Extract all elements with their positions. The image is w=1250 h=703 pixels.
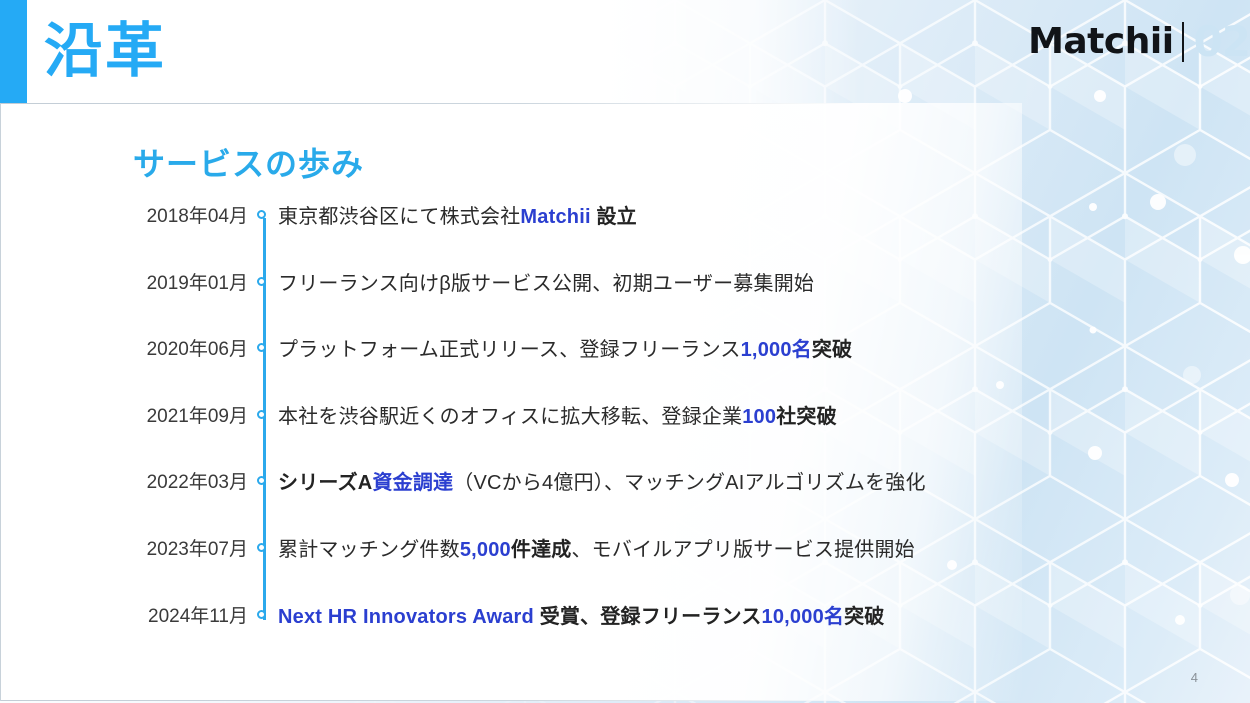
timeline-text-segment: 累計マッチング件数 [278, 539, 460, 561]
timeline-event-text: プラットフォーム正式リリース、登録フリーランス1,000名突破 [278, 335, 852, 365]
timeline-text-segment: シリーズA [278, 472, 372, 494]
timeline-text-segment: 5,000 [460, 539, 511, 561]
timeline-marker-dot [257, 610, 266, 619]
timeline-event-text: 東京都渋谷区にて株式会社Matchii 設立 [278, 202, 637, 232]
timeline-text-segment: Matchii [520, 206, 590, 228]
timeline-row: 2019年01月フリーランス向けβ版サービス公開、初期ユーザー募集開始 [0, 263, 1022, 330]
brand-logo: Matchii 02 [1028, 18, 1250, 66]
panel-top-border [0, 103, 860, 104]
logo-divider [1182, 22, 1184, 62]
timeline-date: 2023年07月 [133, 537, 248, 563]
logo-section-number: 02 [1194, 20, 1250, 64]
title-accent-bar [0, 0, 27, 103]
timeline-text-segment: フリーランス向けβ版サービス公開、初期ユーザー募集開始 [278, 273, 814, 295]
timeline-event-text: Next HR Innovators Award 受賞、登録フリーランス10,0… [278, 602, 885, 632]
timeline: 2018年04月東京都渋谷区にて株式会社Matchii 設立2019年01月フリ… [0, 196, 1022, 662]
timeline-text-segment: 設立 [591, 206, 637, 228]
timeline-row: 2023年07月累計マッチング件数5,000件達成、モバイルアプリ版サービス提供… [0, 529, 1022, 596]
timeline-date: 2019年01月 [133, 271, 248, 297]
timeline-row: 2021年09月本社を渋谷駅近くのオフィスに拡大移転、登録企業100社突破 [0, 396, 1022, 463]
timeline-text-segment: 1,000名 [741, 339, 812, 361]
timeline-event-text: シリーズA資金調達（VCから4億円）、マッチングAIアルゴリズムを強化 [278, 468, 926, 498]
timeline-marker-dot [257, 210, 266, 219]
timeline-date: 2022年03月 [133, 470, 248, 496]
timeline-text-segment: 、モバイルアプリ版サービス提供開始 [571, 539, 914, 561]
timeline-row: 2024年11月Next HR Innovators Award 受賞、登録フリ… [0, 596, 1022, 663]
timeline-marker-dot [257, 543, 266, 552]
timeline-event-text: フリーランス向けβ版サービス公開、初期ユーザー募集開始 [278, 269, 814, 299]
timeline-text-segment: 100 [742, 406, 776, 428]
timeline-text-segment: 東京都渋谷区にて株式会社 [278, 206, 520, 228]
timeline-text-segment: 10,000名 [762, 606, 845, 628]
timeline-rows: 2018年04月東京都渋谷区にて株式会社Matchii 設立2019年01月フリ… [0, 196, 1022, 662]
section-heading: サービスの歩み [133, 143, 364, 185]
timeline-marker-dot [257, 277, 266, 286]
timeline-event-text: 累計マッチング件数5,000件達成、モバイルアプリ版サービス提供開始 [278, 535, 915, 565]
timeline-row: 2018年04月東京都渋谷区にて株式会社Matchii 設立 [0, 196, 1022, 263]
page-number: 4 [1191, 670, 1198, 685]
logo-wordmark: Matchii [1028, 22, 1173, 62]
timeline-date: 2024年11月 [133, 604, 248, 630]
timeline-date: 2020年06月 [133, 337, 248, 363]
timeline-text-segment: 突破 [844, 606, 884, 628]
timeline-date: 2018年04月 [133, 204, 248, 230]
timeline-text-segment: （VCから4億円）、マッチングAIアルゴリズムを強化 [453, 472, 925, 494]
timeline-event-text: 本社を渋谷駅近くのオフィスに拡大移転、登録企業100社突破 [278, 402, 837, 432]
timeline-text-segment: 受賞、登録フリーランス [534, 606, 762, 628]
timeline-marker-dot [257, 476, 266, 485]
timeline-text-segment: 突破 [812, 339, 852, 361]
timeline-text-segment: 資金調達 [372, 472, 453, 494]
timeline-text-segment: プラットフォーム正式リリース、登録フリーランス [278, 339, 741, 361]
timeline-text-segment: Next HR Innovators Award [278, 606, 534, 628]
timeline-row: 2020年06月プラットフォーム正式リリース、登録フリーランス1,000名突破 [0, 329, 1022, 396]
timeline-row: 2022年03月シリーズA資金調達（VCから4億円）、マッチングAIアルゴリズム… [0, 462, 1022, 529]
panel-bottom-border [0, 700, 860, 701]
timeline-text-segment: 本社を渋谷駅近くのオフィスに拡大移転、登録企業 [278, 406, 742, 428]
timeline-marker-dot [257, 343, 266, 352]
page-title: 沿革 [44, 13, 166, 89]
slide: 沿革 Matchii 02 サービスの歩み 2018年04月東京都渋谷区にて株式… [0, 0, 1250, 703]
timeline-date: 2021年09月 [133, 404, 248, 430]
timeline-text-segment: 件達成 [511, 539, 572, 561]
timeline-marker-dot [257, 410, 266, 419]
timeline-text-segment: 社突破 [776, 406, 837, 428]
